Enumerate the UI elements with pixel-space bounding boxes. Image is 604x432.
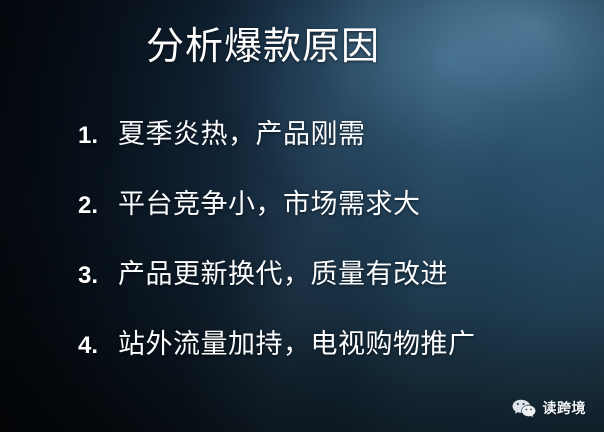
slide-content: 分析爆款原因 1. 夏季炎热，产品刚需 2. 平台竞争小，市场需求大 3. 产品…	[0, 0, 604, 432]
list-item-label: 产品更新换代，质量有改进	[118, 258, 584, 292]
list-item: 2. 平台竞争小，市场需求大	[78, 188, 584, 258]
list-item-label: 站外流量加持，电视购物推广	[118, 328, 584, 362]
page-title: 分析爆款原因	[0, 22, 526, 70]
list-item-label: 平台竞争小，市场需求大	[118, 188, 584, 222]
list-item: 3. 产品更新换代，质量有改进	[78, 258, 584, 328]
watermark-label: 读跨境	[543, 398, 587, 418]
list-item-label: 夏季炎热，产品刚需	[118, 118, 584, 152]
bullet-list: 1. 夏季炎热，产品刚需 2. 平台竞争小，市场需求大 3. 产品更新换代，质量…	[78, 118, 584, 398]
presentation-slide: 分析爆款原因 1. 夏季炎热，产品刚需 2. 平台竞争小，市场需求大 3. 产品…	[0, 0, 604, 432]
list-item-number: 4.	[78, 329, 118, 363]
watermark: 读跨境	[512, 398, 587, 418]
list-item-number: 2.	[78, 189, 118, 223]
list-item: 4. 站外流量加持，电视购物推广	[78, 328, 584, 398]
list-item: 1. 夏季炎热，产品刚需	[78, 118, 584, 188]
wechat-icon	[512, 399, 536, 418]
list-item-number: 3.	[78, 259, 118, 293]
list-item-number: 1.	[78, 119, 118, 153]
